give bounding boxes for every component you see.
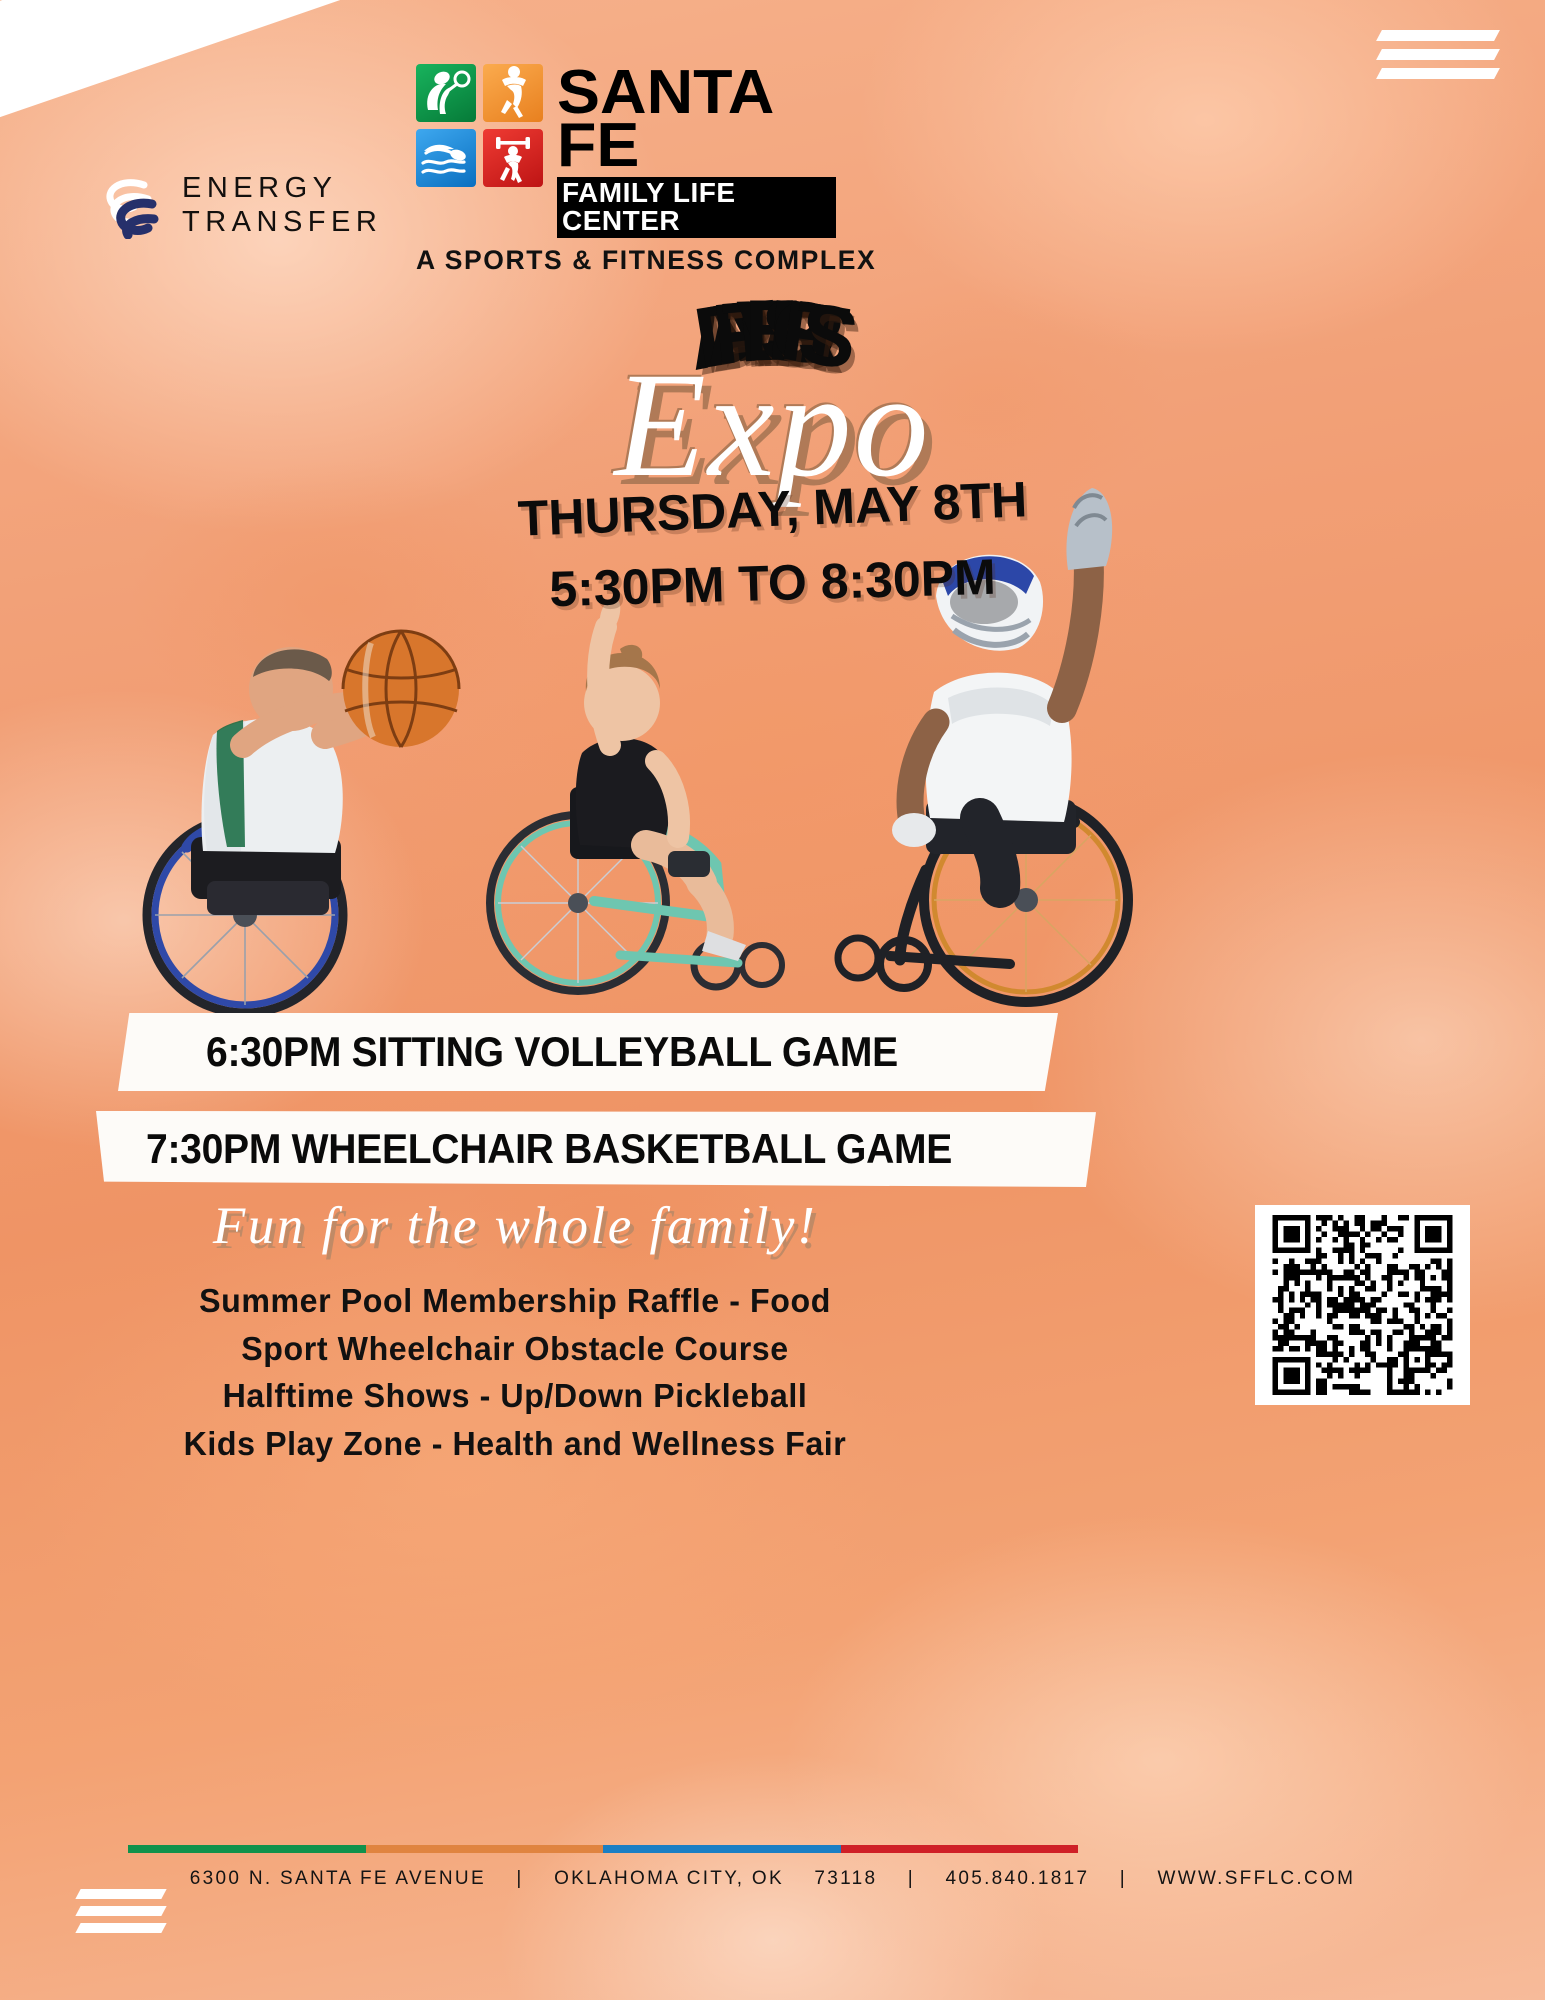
basketball-icon: [483, 64, 543, 122]
family-tagline: Fun for the whole family!: [120, 1196, 910, 1256]
event-datetime: THURSDAY, MAY 8TH 5:30PM TO 8:30PM: [0, 480, 1545, 612]
footer-separator: |: [1120, 1868, 1127, 1890]
sponsor-logo-energy-transfer: ENERGY TRANSFER: [98, 172, 382, 239]
corner-stripes-top-right: [1379, 30, 1497, 87]
photo-wheelchair-basketball-player: [95, 585, 495, 1025]
footer-color-bar: [128, 1845, 1078, 1853]
footer-city: OKLAHOMA CITY, OK: [554, 1868, 784, 1890]
venue-logo-santa-fe-family-life-center: SANTA FE FAMILY LIFE CENTER A SPORTS & F…: [416, 64, 836, 276]
activity-item: Halftime Shows - Up/Down Pickleball: [126, 1373, 904, 1421]
color-bar-orange: [366, 1845, 604, 1853]
sponsor-name-line1: ENERGY: [182, 172, 382, 206]
color-bar-blue: [603, 1845, 841, 1853]
footer-address: 6300 N. SANTA FE AVENUE: [190, 1868, 486, 1890]
venue-subtitle: FAMILY LIFE CENTER: [557, 177, 836, 238]
tile-weightlifting: [483, 129, 543, 187]
energy-transfer-swoosh-icon: [98, 173, 166, 239]
tile-basketball: [483, 64, 543, 122]
footer-contact-info: 6300 N. SANTA FE AVENUE | OKLAHOMA CITY,…: [0, 1868, 1545, 1890]
tile-swimming: [416, 129, 476, 187]
venue-name: SANTA FE: [557, 66, 847, 173]
swimming-icon: [416, 129, 476, 187]
venue-logo-sport-tiles: [416, 64, 543, 187]
schedule-banner-basketball-label: 7:30PM WHEELCHAIR BASKETBALL GAME: [146, 1125, 952, 1173]
weightlifting-icon: [483, 129, 543, 187]
footer-phone: 405.840.1817: [946, 1868, 1090, 1890]
corner-stripes-bottom-left: [78, 1889, 164, 1940]
tile-tennis: [416, 64, 476, 122]
schedule-banner-volleyball: 6:30PM SITTING VOLLEYBALL GAME: [118, 1013, 1058, 1091]
color-bar-red: [841, 1845, 1079, 1853]
qr-code-graphic: [1265, 1215, 1460, 1395]
tennis-icon: [416, 64, 476, 122]
activities-list: Summer Pool Membership Raffle - Food Spo…: [110, 1278, 920, 1468]
qr-code[interactable]: [1255, 1205, 1470, 1405]
footer-separator: |: [908, 1868, 915, 1890]
activity-item: Kids Play Zone - Health and Wellness Fai…: [126, 1421, 904, 1469]
activity-item: Sport Wheelchair Obstacle Course: [126, 1326, 904, 1374]
schedule-banner-volleyball-label: 6:30PM SITTING VOLLEYBALL GAME: [206, 1028, 898, 1076]
photo-girl-sport-wheelchair: [470, 565, 800, 1025]
activity-item: Summer Pool Membership Raffle - Food: [126, 1278, 904, 1326]
venue-tagline: A SPORTS & FITNESS COMPLEX: [416, 245, 836, 276]
color-bar-green: [128, 1845, 366, 1853]
sponsor-name-line2: TRANSFER: [182, 206, 382, 240]
schedule-banner-basketball: 7:30PM WHEELCHAIR BASKETBALL GAME: [96, 1111, 1096, 1187]
footer-zip: 73118: [814, 1868, 877, 1890]
footer-separator: |: [516, 1868, 523, 1890]
footer-website: WWW.SFFLC.COM: [1157, 1868, 1355, 1890]
